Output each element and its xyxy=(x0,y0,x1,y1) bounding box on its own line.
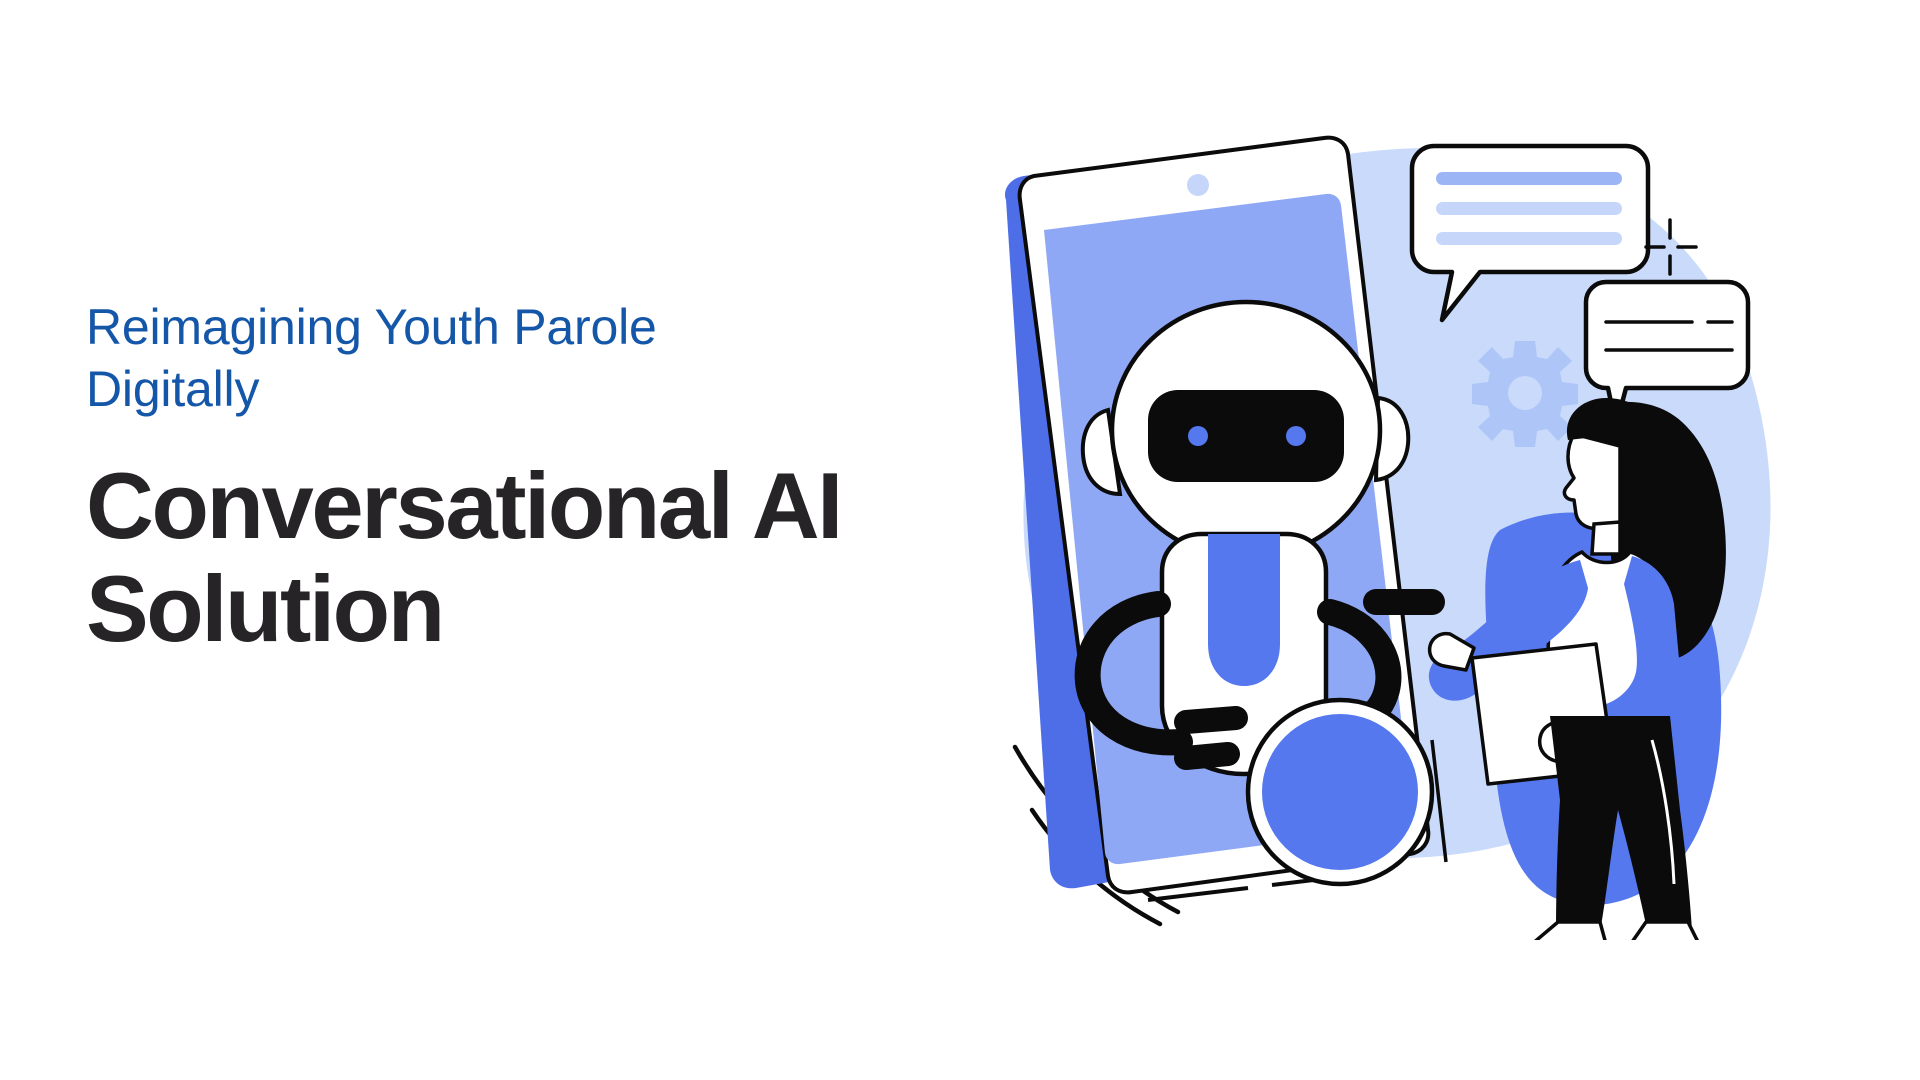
robot-eye-left xyxy=(1188,426,1208,446)
bubble-bar-3 xyxy=(1436,232,1622,245)
robot-eye-right xyxy=(1286,426,1306,446)
woman-shoe-right xyxy=(1630,922,1700,940)
slide-canvas: Reimagining Youth Parole Digitally Conve… xyxy=(0,0,1920,1080)
gear-icon xyxy=(1472,341,1578,447)
bubble-bar-2 xyxy=(1436,202,1622,215)
blue-circle-badge xyxy=(1248,700,1432,884)
bubble-bar-1 xyxy=(1436,172,1622,185)
hero-text-block: Reimagining Youth Parole Digitally Conve… xyxy=(86,296,966,661)
robot-visor xyxy=(1148,390,1344,482)
eyebrow-subtitle: Reimagining Youth Parole Digitally xyxy=(86,296,966,420)
page-title: Conversational AI Solution xyxy=(86,454,966,661)
robot-body-stripe xyxy=(1208,534,1280,686)
woman-shoe-left xyxy=(1529,922,1606,940)
conversational-ai-illustration xyxy=(980,110,1860,940)
woman-neck xyxy=(1592,522,1620,554)
phone-camera-dot xyxy=(1187,174,1209,196)
